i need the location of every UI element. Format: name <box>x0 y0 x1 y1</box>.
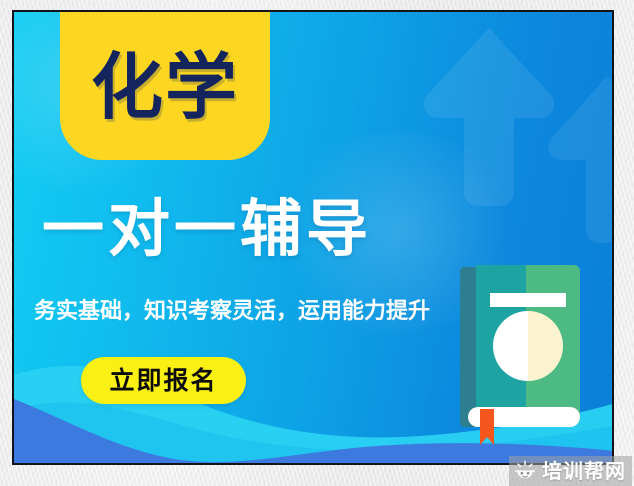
page-backdrop: 化学 一对一辅导 务实基础，知识考察灵活，运用能力提升 立即报名 <box>0 0 634 486</box>
signup-button[interactable]: 立即报名 <box>81 357 246 404</box>
subject-badge: 化学 <box>60 10 270 160</box>
subject-badge-label: 化学 <box>91 45 239 123</box>
headline-text: 一对一辅导 <box>42 198 372 260</box>
up-arrow-icon-secondary <box>542 72 614 247</box>
subtitle-text: 务实基础，知识考察灵活，运用能力提升 <box>34 301 430 323</box>
signup-button-label: 立即报名 <box>109 368 217 393</box>
watermark: 培训帮网 <box>509 456 632 486</box>
promo-banner: 化学 一对一辅导 务实基础，知识考察灵活，运用能力提升 立即报名 <box>12 10 614 465</box>
book-icon <box>454 257 594 447</box>
sun-face-icon <box>514 460 536 482</box>
up-arrow-icon <box>419 24 559 209</box>
watermark-text: 培训帮网 <box>542 461 626 481</box>
